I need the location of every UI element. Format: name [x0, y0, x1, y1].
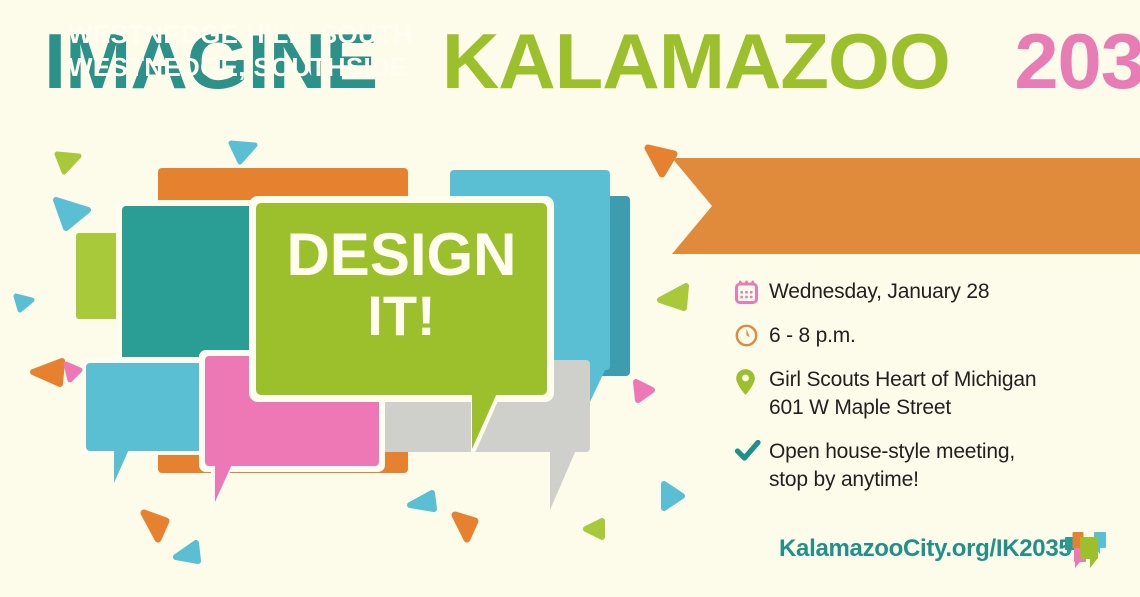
confetti-triangle-teal-top [226, 138, 260, 168]
confetti-triangle-green-bottomright [578, 515, 610, 543]
detail-location-line-2: 601 W Maple Street [769, 394, 1036, 422]
detail-location-line-1: Girl Scouts Heart of Michigan [769, 366, 1036, 394]
bubble-tail [472, 391, 498, 449]
clock-icon [735, 322, 769, 347]
title-word-year: 2035 [1014, 22, 1140, 100]
neighborhood-banner [672, 158, 1140, 254]
website-url[interactable]: KalamazooCity.org/IK2035 [779, 535, 1071, 563]
detail-row-location: Girl Scouts Heart of Michigan 601 W Mapl… [735, 366, 1125, 422]
banner-line-1: WESTNEDGE HILL, SOUTH [68, 18, 412, 51]
confetti-triangle-pink-left [60, 358, 86, 386]
hero-text: DESIGN IT! [256, 226, 547, 342]
bubble-tail [550, 450, 576, 510]
detail-row-date: Wednesday, January 28 [735, 278, 1125, 306]
hero-line-1: DESIGN [256, 226, 547, 283]
map-pin-icon [735, 366, 769, 396]
confetti-triangle-green [52, 148, 84, 178]
confetti-triangle-teal [52, 196, 92, 232]
confetti-triangle-teal-bottommid [404, 485, 440, 517]
confetti-triangle-green-right [652, 278, 692, 314]
detail-text-time: 6 - 8 p.m. [769, 322, 856, 350]
event-details-list: Wednesday, January 28 6 - 8 p.m. [735, 278, 1125, 510]
speech-bubbles-logo [1064, 524, 1108, 572]
detail-note-line-1: Open house-style meeting, [769, 438, 1015, 466]
confetti-triangle-orange-bottommid [447, 505, 483, 547]
confetti-triangle-teal-farright [654, 478, 690, 516]
bubble-tail [114, 447, 130, 483]
confetti-triangle-teal-far [10, 290, 38, 316]
detail-text-date: Wednesday, January 28 [769, 278, 989, 306]
banner-line-2: WESTNEDGE, SOUTHSIDE [68, 51, 412, 84]
detail-row-time: 6 - 8 p.m. [735, 322, 1125, 350]
checkmark-icon [735, 438, 769, 462]
poster-canvas: IMAGINE KALAMAZOO 2035 [0, 0, 1140, 597]
detail-note-line-2: stop by anytime! [769, 466, 1015, 494]
detail-time-line-1: 6 - 8 p.m. [769, 322, 856, 350]
bubble-tail [215, 462, 233, 502]
hero-line-2: IT! [256, 289, 547, 342]
detail-text-note: Open house-style meeting, stop by anytim… [769, 438, 1015, 494]
confetti-triangle-teal-bottomleft [168, 535, 202, 567]
neighborhood-banner-text: WESTNEDGE HILL, SOUTH WESTNEDGE, SOUTHSI… [68, 18, 412, 85]
confetti-triangle-pink-right [628, 374, 660, 408]
detail-text-location: Girl Scouts Heart of Michigan 601 W Mapl… [769, 366, 1036, 422]
title-word-kalamazoo: KALAMAZOO [442, 22, 950, 100]
detail-date-line-1: Wednesday, January 28 [769, 278, 989, 306]
calendar-icon [735, 278, 769, 304]
detail-row-note: Open house-style meeting, stop by anytim… [735, 438, 1125, 494]
